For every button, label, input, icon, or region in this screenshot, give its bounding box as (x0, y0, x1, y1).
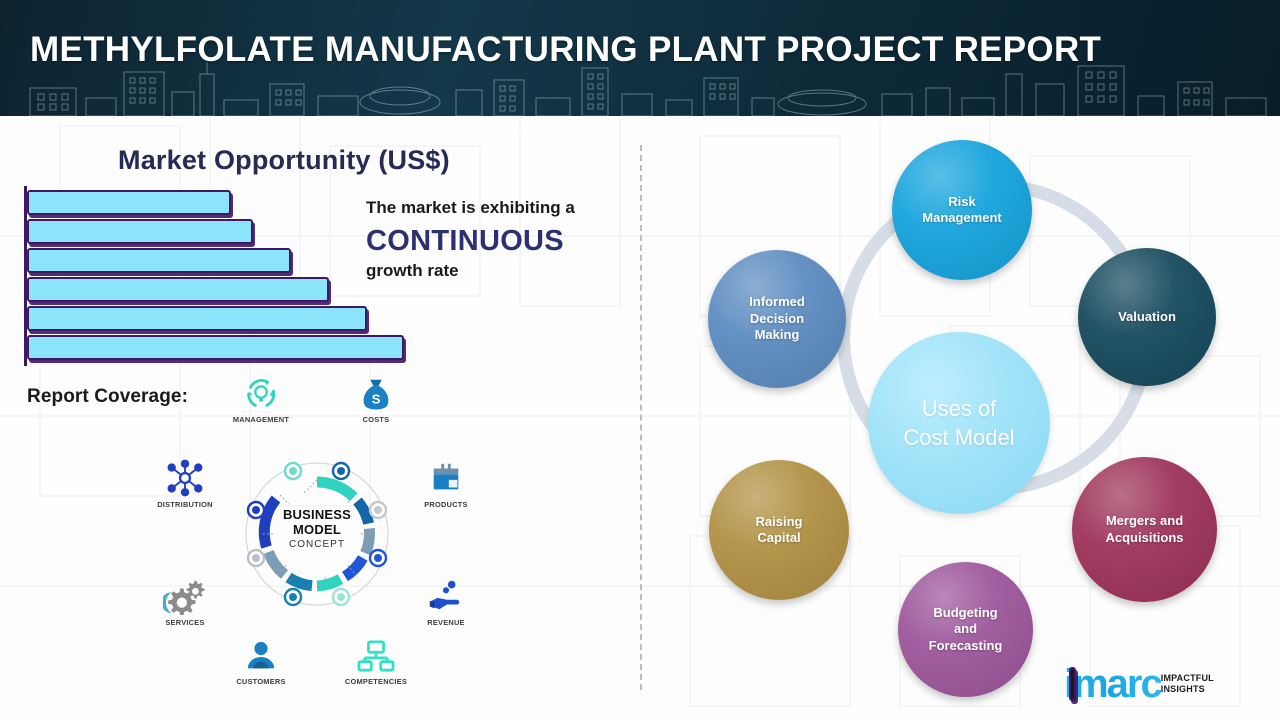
bm-node-label: COMPETENCIES (328, 677, 424, 686)
bm-node-label: CUSTOMERS (213, 677, 309, 686)
network-screens-icon (328, 634, 424, 674)
cost-satellite-raising-capital: RaisingCapital (709, 460, 849, 600)
cost-satellite-label: Valuation (1118, 309, 1176, 325)
bm-node-label: REVENUE (398, 618, 494, 627)
cost-satellite-label-line: Decision (749, 311, 805, 327)
cost-satellite-risk-management: RiskManagement (892, 140, 1032, 280)
cost-satellite-label-line: and (929, 621, 1003, 637)
slide-header: METHYLFOLATE MANUFACTURING PLANT PROJECT… (0, 0, 1280, 116)
bm-node-services: SERVICES (137, 575, 233, 627)
chart-bar (27, 335, 404, 360)
growth-highlight: CONTINUOUS (366, 223, 636, 259)
cost-satellite-budgeting-forecasting: BudgetingandForecasting (898, 562, 1033, 697)
business-model-diagram: MANAGEMENT S COSTS (145, 372, 465, 698)
cost-satellite-label-line: Management (922, 210, 1001, 226)
cost-center-line-2: Cost Model (903, 423, 1014, 452)
cost-satellite-label: Mergers andAcquisitions (1105, 513, 1183, 546)
cost-satellite-label: InformedDecisionMaking (749, 294, 805, 343)
cost-satellite-label-line: Raising (756, 514, 803, 530)
tagline-line-1: IMPACTFUL (1161, 673, 1214, 684)
growth-line-3: growth rate (366, 261, 636, 281)
cost-satellite-label-line: Acquisitions (1105, 530, 1183, 546)
tagline-line-2: INSIGHTS (1161, 684, 1214, 695)
imarc-tagline: IMPACTFUL INSIGHTS (1161, 673, 1214, 694)
cost-model-center: Uses of Cost Model (868, 332, 1050, 514)
cost-satellite-mergers-acquisitions: Mergers andAcquisitions (1072, 457, 1217, 602)
cost-satellite-valuation: Valuation (1078, 248, 1216, 386)
vertical-dashed-divider (640, 145, 642, 690)
bm-node-label: DISTRIBUTION (137, 500, 233, 509)
chart-bar (27, 306, 367, 331)
money-bag-icon: S (328, 372, 424, 412)
bm-node-label: PRODUCTS (398, 500, 494, 509)
bm-node-revenue: REVENUE (398, 575, 494, 627)
svg-text:S: S (372, 391, 381, 406)
bm-node-customers: CUSTOMERS (213, 634, 309, 686)
gears-icon (137, 575, 233, 615)
chart-bar (27, 277, 329, 302)
cost-satellite-label: RaisingCapital (756, 514, 803, 547)
cost-satellite-label-line: Mergers and (1105, 513, 1183, 529)
market-opportunity-bar-chart (24, 186, 404, 366)
imarc-logo: imarc IMPACTFUL INSIGHTS (1064, 663, 1214, 705)
growth-line-1: The market is exhibiting a (366, 198, 636, 218)
box-icon (398, 457, 494, 497)
bm-node-costs: S COSTS (328, 372, 424, 424)
bm-node-label: COSTS (328, 415, 424, 424)
imarc-wordmark: imarc (1064, 664, 1161, 704)
bm-node-competencies: COMPETENCIES (328, 634, 424, 686)
people-icon (213, 634, 309, 674)
cost-satellite-label-line: Making (749, 327, 805, 343)
hand-coins-icon (398, 575, 494, 615)
uses-of-cost-model-diagram: RiskManagement Valuation Mergers andAcqu… (680, 130, 1280, 700)
cost-satellite-informed-decision: InformedDecisionMaking (708, 250, 846, 388)
cost-satellite-label: RiskManagement (922, 194, 1001, 227)
page-title: METHYLFOLATE MANUFACTURING PLANT PROJECT… (30, 30, 1101, 70)
cost-center-line-1: Uses of (903, 394, 1014, 423)
growth-statement: The market is exhibiting a CONTINUOUS gr… (366, 198, 636, 280)
bm-node-label: SERVICES (137, 618, 233, 627)
cost-satellite-label-line: Capital (756, 530, 803, 546)
bm-node-products: PRODUCTS (398, 457, 494, 509)
bm-node-distribution: DISTRIBUTION (137, 457, 233, 509)
chart-bar (27, 190, 231, 215)
cost-satellite-label-line: Budgeting (929, 605, 1003, 621)
cost-satellite-label-line: Risk (922, 194, 1001, 210)
cost-model-center-text: Uses of Cost Model (903, 394, 1014, 452)
recycle-bulb-icon (213, 372, 309, 412)
cost-satellite-label-line: Valuation (1118, 309, 1176, 325)
slide-root: METHYLFOLATE MANUFACTURING PLANT PROJECT… (0, 0, 1280, 720)
chart-bar (27, 248, 291, 273)
bm-node-label: MANAGEMENT (213, 415, 309, 424)
logo-divider (1069, 667, 1076, 701)
cost-satellite-label: BudgetingandForecasting (929, 605, 1003, 654)
distribution-nodes-icon (137, 457, 233, 497)
chart-bar (27, 219, 253, 244)
bm-node-management: MANAGEMENT (213, 372, 309, 424)
cost-satellite-label-line: Informed (749, 294, 805, 310)
business-model-wheel: BUSINESS MODEL CONCEPT (237, 454, 397, 614)
cost-satellite-label-line: Forecasting (929, 638, 1003, 654)
market-opportunity-heading: Market Opportunity (US$) (118, 145, 450, 176)
